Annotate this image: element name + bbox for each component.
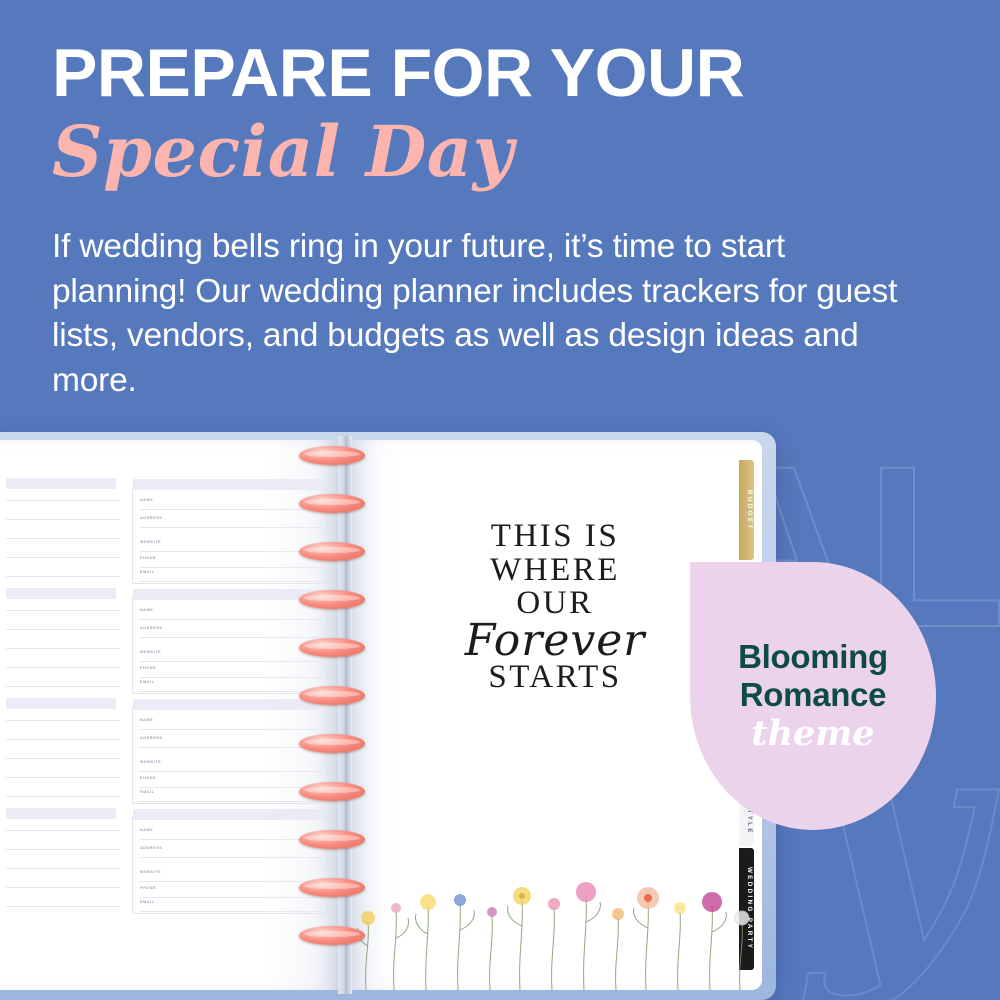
field-label: ADDRESS — [140, 516, 162, 520]
body-paragraph: If wedding bells ring in your future, it… — [52, 225, 907, 403]
ruled-line — [6, 519, 120, 520]
vendor-notes-column — [6, 816, 124, 914]
ruled-line — [6, 629, 120, 630]
field-label: ADDRESS — [140, 846, 162, 850]
vendor-notes-column — [6, 486, 124, 584]
vendor-field-address[interactable]: ADDRESS — [139, 623, 322, 638]
binding-disc — [299, 542, 365, 561]
field-label: PHONE — [140, 886, 156, 890]
vendor-header-bar — [133, 699, 323, 710]
vendor-notes-column — [6, 596, 124, 694]
vendor-entry-block: NAMEADDRESSWEBSITEPHONEEMAIL — [6, 816, 328, 914]
ruled-line — [6, 830, 120, 831]
vendor-field-email[interactable]: EMAIL — [139, 677, 322, 692]
field-label: PHONE — [140, 556, 156, 560]
binding-disc — [299, 782, 365, 801]
vendor-field-website[interactable]: WEBSITE — [139, 757, 322, 772]
vendor-field-website[interactable]: WEBSITE — [139, 647, 322, 662]
vendor-field-address[interactable]: ADDRESS — [139, 513, 322, 528]
page-title: PREPARE FOR YOUR — [52, 40, 952, 107]
vendor-entry-block: NAMEADDRESSWEBSITEPHONEEMAIL — [6, 486, 328, 584]
wildflowers-svg — [348, 860, 762, 990]
vendor-entry-block: NAMEADDRESSWEBSITEPHONEEMAIL — [6, 596, 328, 694]
binding-disc — [299, 878, 365, 897]
field-label: NAME — [140, 828, 153, 832]
binding-disc — [299, 830, 365, 849]
vendor-field-address[interactable]: ADDRESS — [139, 733, 322, 748]
field-label: EMAIL — [140, 900, 155, 904]
ruled-line — [6, 667, 120, 668]
promo-graphic: AL y PREPARE FOR YOUR Special Day If wed… — [0, 0, 1000, 1000]
field-label: PHONE — [140, 666, 156, 670]
floral-border-illustration — [348, 860, 762, 990]
vendor-field-phone[interactable]: PHONE — [139, 553, 322, 568]
ruled-line — [6, 849, 120, 850]
vendor-field-email[interactable]: EMAIL — [139, 897, 322, 912]
binding-disc — [299, 590, 365, 609]
field-label: EMAIL — [140, 790, 155, 794]
badge-line-3: theme — [751, 715, 874, 754]
ruled-line — [6, 868, 120, 869]
binding-disc — [299, 638, 365, 657]
vendor-entry-block: NAMEADDRESSWEBSITEPHONEEMAIL — [6, 706, 328, 804]
vendor-fields-column: NAMEADDRESSWEBSITEPHONEEMAIL — [132, 486, 328, 584]
page-subtitle-script: Special Day — [52, 113, 952, 191]
ruled-line — [6, 557, 120, 558]
ruled-line — [6, 500, 120, 501]
ruled-line — [6, 686, 120, 687]
binding-disc — [299, 494, 365, 513]
field-label: NAME — [140, 498, 153, 502]
vendor-field-name[interactable]: NAME — [139, 605, 322, 620]
field-label: WEBSITE — [140, 650, 161, 654]
ruled-line — [6, 777, 120, 778]
field-label: NAME — [140, 608, 153, 612]
field-label: WEBSITE — [140, 540, 161, 544]
vendor-header-bar — [133, 589, 323, 600]
vendor-header-bar — [133, 809, 323, 820]
badge-line-2: Romance — [740, 676, 886, 713]
quote-line-1: THIS IS — [348, 520, 762, 554]
binding-disc — [299, 446, 365, 465]
ruled-line — [6, 720, 120, 721]
vendor-field-name[interactable]: NAME — [139, 825, 322, 840]
header-block: PREPARE FOR YOUR Special Day If wedding … — [52, 40, 952, 403]
ruled-line — [6, 906, 120, 907]
ruled-line — [6, 610, 120, 611]
vendor-field-email[interactable]: EMAIL — [139, 787, 322, 802]
vendor-header-bar — [6, 588, 116, 599]
theme-badge: Blooming Romance theme — [690, 562, 936, 830]
badge-line-1: Blooming — [738, 638, 888, 675]
vendor-notes-column — [6, 706, 124, 804]
ruled-line — [6, 739, 120, 740]
vendor-field-website[interactable]: WEBSITE — [139, 537, 322, 552]
vendor-field-name[interactable]: NAME — [139, 495, 322, 510]
binding-disc — [299, 686, 365, 705]
planner-photo: NAMEADDRESSWEBSITEPHONEEMAILNAMEADDRESSW… — [0, 432, 776, 1000]
vendor-header-bar — [6, 478, 116, 489]
vendor-header-bar — [133, 479, 323, 490]
field-label: PHONE — [140, 776, 156, 780]
field-label: WEBSITE — [140, 870, 161, 874]
ruled-line — [6, 796, 120, 797]
vendor-field-email[interactable]: EMAIL — [139, 567, 322, 582]
vendor-field-address[interactable]: ADDRESS — [139, 843, 322, 858]
vendor-header-bar — [6, 698, 116, 709]
vendor-field-name[interactable]: NAME — [139, 715, 322, 730]
field-label: ADDRESS — [140, 626, 162, 630]
vendor-field-phone[interactable]: PHONE — [139, 663, 322, 678]
field-label: WEBSITE — [140, 760, 161, 764]
field-label: EMAIL — [140, 680, 155, 684]
planner-page-left: NAMEADDRESSWEBSITEPHONEEMAILNAMEADDRESSW… — [0, 440, 342, 990]
vendor-field-website[interactable]: WEBSITE — [139, 867, 322, 882]
binding-disc — [299, 926, 365, 945]
ruled-line — [6, 758, 120, 759]
vendor-fields-column: NAMEADDRESSWEBSITEPHONEEMAIL — [132, 816, 328, 914]
ruled-line — [6, 576, 120, 577]
vendor-field-phone[interactable]: PHONE — [139, 773, 322, 788]
ruled-line — [6, 887, 120, 888]
field-label: ADDRESS — [140, 736, 162, 740]
ruled-line — [6, 538, 120, 539]
field-label: EMAIL — [140, 570, 155, 574]
ruled-line — [6, 648, 120, 649]
binding-disc — [299, 734, 365, 753]
field-label: NAME — [140, 718, 153, 722]
vendor-field-phone[interactable]: PHONE — [139, 883, 322, 898]
vendor-header-bar — [6, 808, 116, 819]
